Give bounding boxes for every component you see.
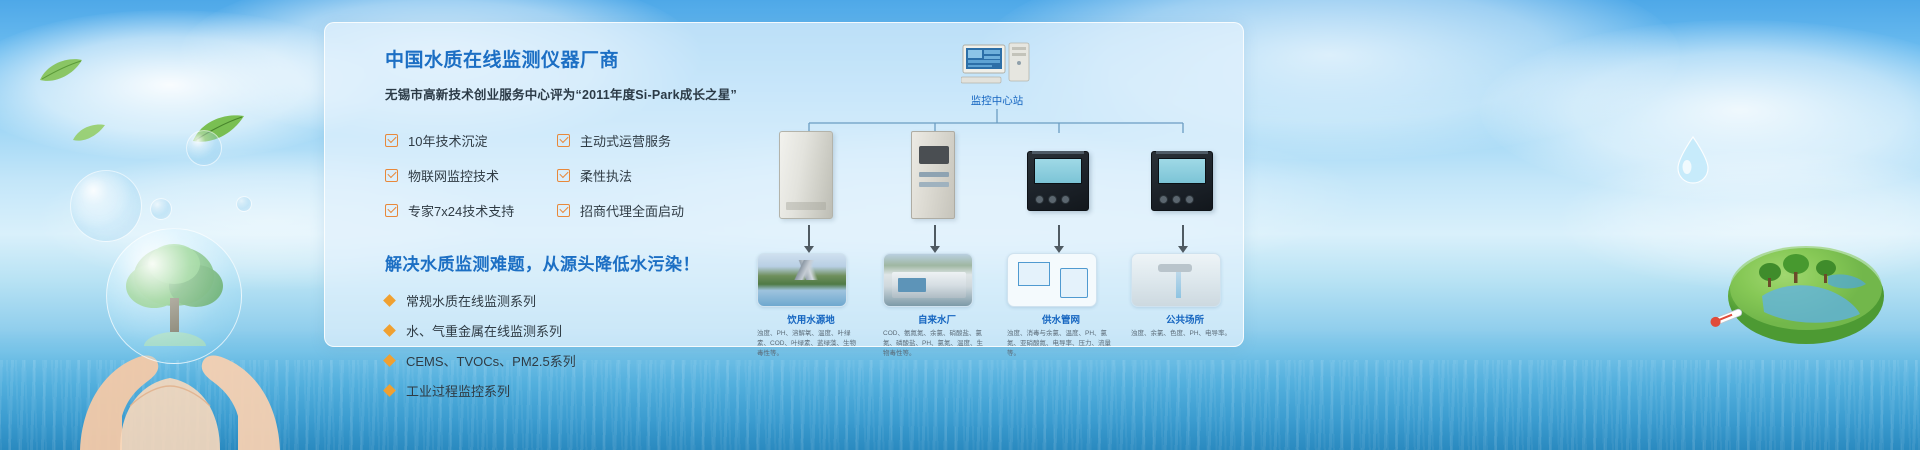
controller-lcd: [1034, 158, 1082, 184]
application-scene-row: 饮用水源地 浊度、PH、溶解氧、温度、叶绿素、COD、叶绿素、蓝绿藻、生物毒性等…: [765, 253, 1225, 343]
device-analyzer-rack: [911, 131, 975, 219]
device-row: [765, 131, 1225, 227]
scene-photo-water-plant: [883, 253, 973, 307]
controller-button[interactable]: [1061, 195, 1070, 204]
leaf-icon: [72, 122, 106, 144]
scene-caption: 供水管网: [1007, 312, 1115, 326]
series-label: 工业过程监控系列: [406, 381, 510, 400]
controller-icon: [1151, 151, 1213, 211]
feature-list: 10年技术沉淀 主动式运营服务 物联网监控技术 柔性执法 专家7x24技术支持 …: [385, 131, 785, 220]
scene-caption: 公共场所: [1131, 312, 1239, 326]
controller-button[interactable]: [1048, 195, 1057, 204]
scene-caption: 饮用水源地: [757, 312, 865, 326]
monitoring-center-computer-icon: [961, 41, 1035, 89]
controller-button[interactable]: [1172, 195, 1181, 204]
scene-card[interactable]: 饮用水源地 浊度、PH、溶解氧、温度、叶绿素、COD、叶绿素、蓝绿藻、生物毒性等…: [757, 253, 865, 359]
center-station-label: 监控中心站: [915, 93, 1079, 108]
feature-label: 物联网监控技术: [408, 166, 499, 185]
feature-label: 主动式运营服务: [580, 131, 671, 150]
page-title: 中国水质在线监测仪器厂商: [385, 45, 785, 72]
controller-top-strip: [1156, 151, 1208, 154]
flow-arrow-down-icon: [934, 225, 936, 247]
checkbox-icon: [557, 204, 570, 217]
checkbox-icon: [557, 134, 570, 147]
scene-description: 浊度、余氯、色度、PH、电导率。: [1131, 329, 1235, 339]
page-subtitle: 无锡市高新技术创业服务中心评为“2011年度Si-Park成长之星”: [385, 84, 785, 103]
checkbox-icon: [385, 204, 398, 217]
system-topology-diagram: 监控中心站: [765, 35, 1225, 335]
panel-left-column: 中国水质在线监测仪器厂商 无锡市高新技术创业服务中心评为“2011年度Si-Pa…: [385, 45, 785, 400]
flow-arrow-down-icon: [808, 225, 810, 247]
checkbox-icon: [557, 169, 570, 182]
water-sphere: [106, 228, 242, 364]
content-panel: 中国水质在线监测仪器厂商 无锡市高新技术创业服务中心评为“2011年度Si-Pa…: [324, 22, 1244, 347]
feature-label: 招商代理全面启动: [580, 201, 684, 220]
controller-top-strip: [1032, 151, 1084, 154]
feature-label: 专家7x24技术支持: [408, 201, 514, 220]
feature-label: 柔性执法: [580, 166, 632, 185]
checkbox-icon: [385, 169, 398, 182]
scene-description: 浊度、PH、溶解氧、温度、叶绿素、COD、叶绿素、蓝绿藻、生物毒性等。: [757, 329, 861, 359]
scene-card[interactable]: 供水管网 浊度、消毒与余氯、温度、PH、氯氮、亚硝酸氮、电导率、压力、流量等。: [1007, 253, 1115, 359]
hands-holding-tree-illustration: [60, 206, 300, 450]
feature-item: 主动式运营服务: [557, 131, 729, 150]
scene-photo-water-pipe-network: [1007, 253, 1097, 307]
feature-label: 10年技术沉淀: [408, 131, 487, 150]
series-item[interactable]: 工业过程监控系列: [385, 381, 785, 400]
controller-button[interactable]: [1035, 195, 1044, 204]
rack-panel-bar: [919, 182, 949, 187]
scene-card[interactable]: 公共场所 浊度、余氯、色度、PH、电导率。: [1131, 253, 1239, 339]
bubble-decoration: [186, 130, 222, 166]
series-label: CEMS、TVOCs、PM2.5系列: [406, 351, 576, 370]
product-series-list: 常规水质在线监测系列 水、气重金属在线监测系列 CEMS、TVOCs、PM2.5…: [385, 291, 785, 400]
controller-lcd: [1158, 158, 1206, 184]
device-controller-a: [1027, 151, 1091, 211]
diamond-bullet-icon: [383, 354, 396, 367]
flow-arrow-down-icon: [1058, 225, 1060, 247]
feature-item: 招商代理全面启动: [557, 201, 729, 220]
scene-description: COD、氨氮氮、余氯、硝酸盐、氯氮、磷酸盐、PH、氯氮、温度、生物毒性等。: [883, 329, 987, 359]
scene-photo-public-place: [1131, 253, 1221, 307]
feature-item: 10年技术沉淀: [385, 131, 557, 150]
analyzer-rack-icon: [911, 131, 955, 219]
scene-photo-drinking-water-source: [757, 253, 847, 307]
series-item[interactable]: 常规水质在线监测系列: [385, 291, 785, 310]
feature-item: 柔性执法: [557, 166, 729, 185]
controller-icon: [1027, 151, 1089, 211]
section-title: 解决水质监测难题，从源头降低水污染！: [385, 250, 785, 275]
rack-panel-bar: [919, 172, 949, 177]
flow-arrow-down-icon: [1182, 225, 1184, 247]
water-droplet-icon: [1676, 136, 1710, 184]
scene-card[interactable]: 自来水厂 COD、氨氮氮、余氯、硝酸盐、氯氮、磷酸盐、PH、氯氮、温度、生物毒性…: [883, 253, 991, 359]
rack-screen: [919, 146, 949, 164]
green-planet-illustration: [1710, 222, 1890, 352]
series-label: 常规水质在线监测系列: [406, 291, 536, 310]
device-controller-b: [1151, 151, 1215, 211]
feature-item: 专家7x24技术支持: [385, 201, 557, 220]
diamond-bullet-icon: [383, 324, 396, 337]
checkbox-icon: [385, 134, 398, 147]
series-label: 水、气重金属在线监测系列: [406, 321, 562, 340]
controller-button[interactable]: [1159, 195, 1168, 204]
scene-description: 浊度、消毒与余氯、温度、PH、氯氮、亚硝酸氮、电导率、压力、流量等。: [1007, 329, 1111, 359]
leaf-icon: [38, 56, 84, 86]
series-item[interactable]: CEMS、TVOCs、PM2.5系列: [385, 351, 785, 370]
controller-button[interactable]: [1185, 195, 1194, 204]
series-item[interactable]: 水、气重金属在线监测系列: [385, 321, 785, 340]
analyzer-cabinet-icon: [779, 131, 833, 219]
diamond-bullet-icon: [383, 294, 396, 307]
diamond-bullet-icon: [383, 384, 396, 397]
scene-caption: 自来水厂: [883, 312, 991, 326]
controller-buttons[interactable]: [1159, 195, 1194, 204]
device-water-cabinet: [779, 131, 843, 219]
feature-item: 物联网监控技术: [385, 166, 557, 185]
controller-buttons[interactable]: [1035, 195, 1070, 204]
